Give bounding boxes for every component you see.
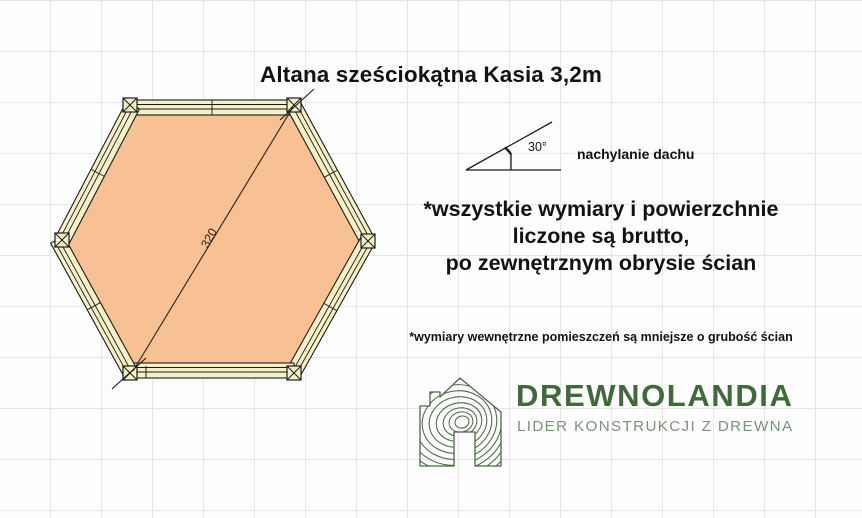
drawing-canvas: 320 Altana sześciokątna Kasia 3,2m 30° n… [0,0,862,518]
corner-post [287,98,301,112]
logo-tagline: LIDER KONSTRUKCJI Z DREWNA [517,418,793,435]
roof-angle-value: 30° [528,140,547,154]
wall-bottom [130,363,294,378]
note-line-2: liczone są brutto, [424,223,779,250]
roof-angle-caption: nachylanie dachu [577,146,694,162]
corner-post [361,234,375,248]
note-line-1: *wszystkie wymiary i powierzchnie [424,196,779,223]
drewnolandia-logo: DREWNOLANDIA LIDER KONSTRUKCJI Z DREWNA [404,370,784,470]
corner-post [123,98,137,112]
interior-dimensions-footnote: *wymiary wewnętrzne pomieszczeń są mniej… [409,330,792,344]
corner-post [55,233,69,247]
note-line-3: po zewnętrznym obrysie ścian [424,250,779,277]
page-title: Altana sześciokątna Kasia 3,2m [260,62,602,88]
wall-top [130,100,294,115]
gross-dimensions-note: *wszystkie wymiary i powierzchnie liczon… [424,196,779,277]
corner-post [287,366,301,380]
logo-wordmark: DREWNOLANDIA [516,378,794,414]
